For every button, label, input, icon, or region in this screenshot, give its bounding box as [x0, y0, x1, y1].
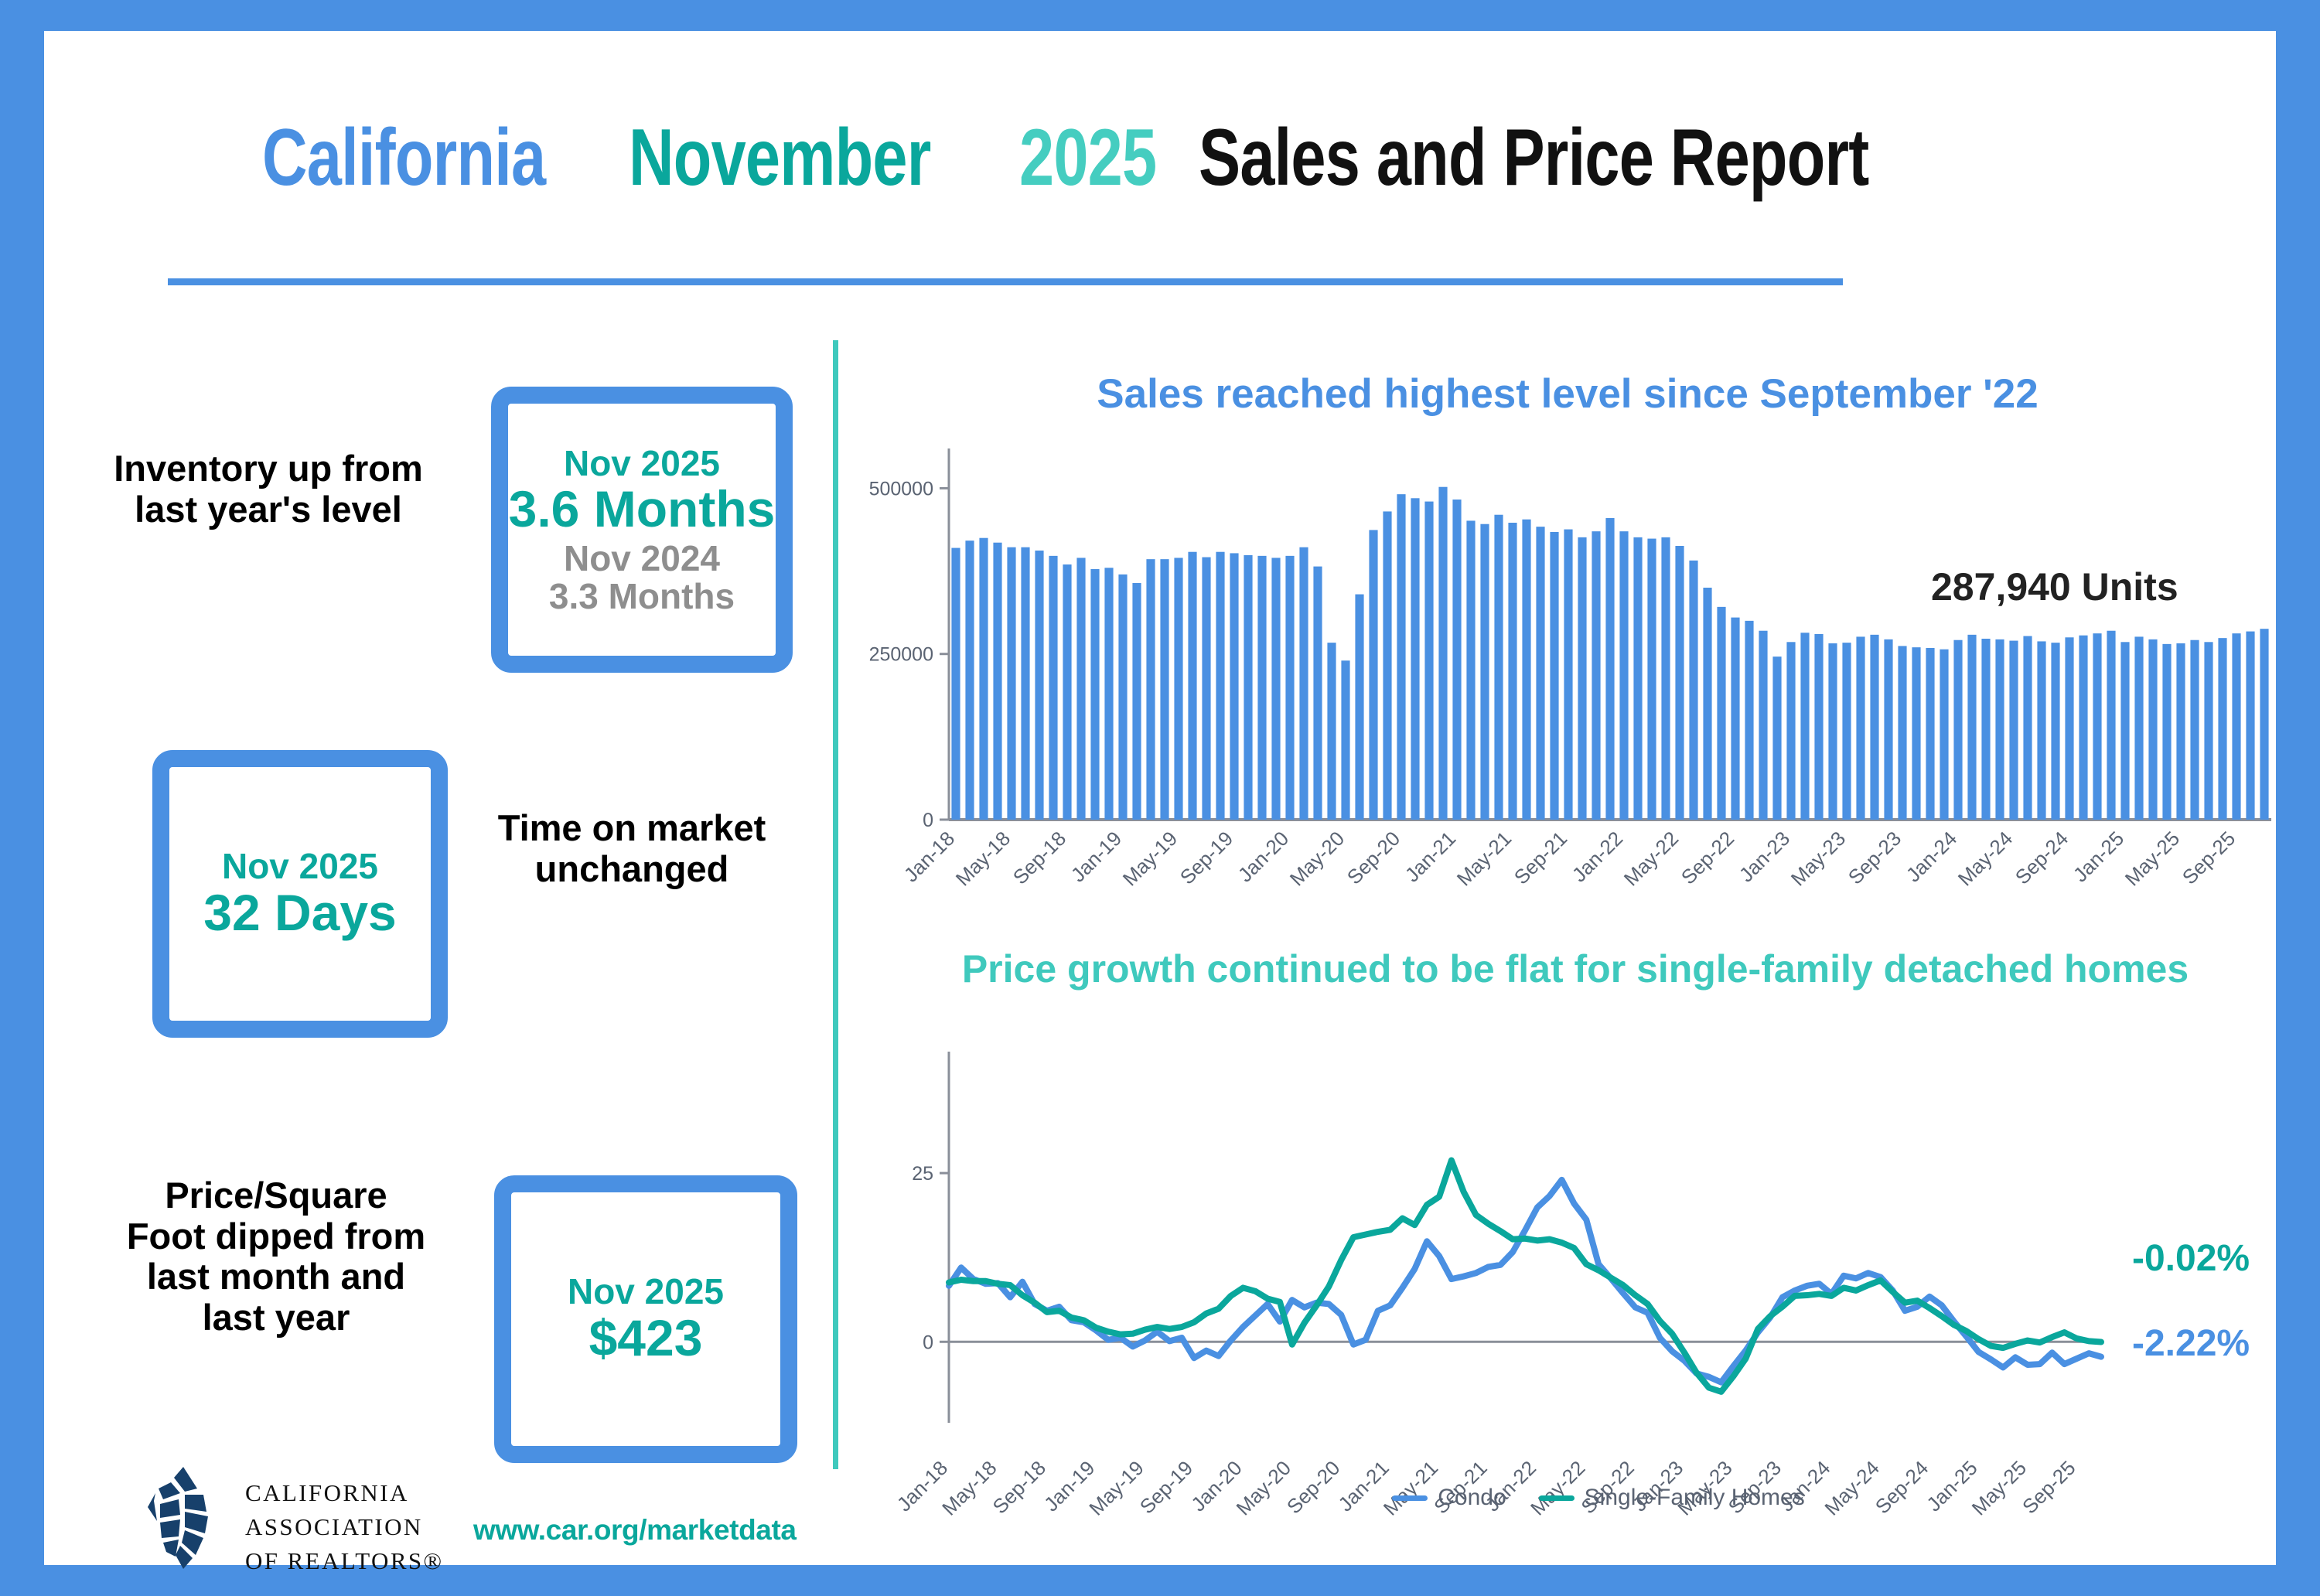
- legend-label-condo: Condo: [1438, 1485, 1506, 1511]
- svg-text:Jan-22: Jan-22: [1568, 827, 1627, 886]
- stat-card-price-per-sqft: Nov 2025 $423: [494, 1175, 797, 1463]
- svg-text:May-25: May-25: [2120, 827, 2185, 891]
- psf-current-label: Nov 2025: [568, 1273, 724, 1310]
- price-growth-line-chart: 025Jan-18May-18Sep-18Jan-19May-19Sep-19J…: [848, 1036, 2302, 1547]
- svg-text:25: 25: [912, 1163, 933, 1185]
- logo-line-2: ASSOCIATION: [245, 1510, 444, 1544]
- svg-text:Sep-23: Sep-23: [1844, 827, 1905, 888]
- infographic-page: California November 2025 Sales and Price…: [44, 31, 2276, 1565]
- svg-text:May-21: May-21: [1452, 827, 1517, 891]
- blurb-time-on-market: Time on market unchanged: [485, 808, 779, 889]
- svg-text:May-18: May-18: [937, 1456, 1001, 1520]
- logo-line-1: CALIFORNIA: [245, 1476, 444, 1510]
- stat-card-inventory: Nov 2025 3.6 Months Nov 2024 3.3 Months: [491, 387, 793, 673]
- svg-text:Sep-22: Sep-22: [1677, 827, 1738, 888]
- bar-chart-svg: 0250000500000Jan-18May-18Sep-18Jan-19May…: [848, 441, 2302, 936]
- legend-item-condo[interactable]: Condo: [1392, 1485, 1506, 1511]
- dom-current-label: Nov 2025: [222, 847, 378, 885]
- svg-text:May-19: May-19: [1118, 827, 1182, 891]
- legend-item-single-family[interactable]: Single-Family Homes: [1539, 1485, 1805, 1511]
- svg-text:Jan-21: Jan-21: [1401, 827, 1460, 886]
- svg-text:0: 0: [923, 1332, 933, 1353]
- inventory-prior-label: Nov 2024: [564, 540, 720, 577]
- page-title: California November 2025 Sales and Price…: [44, 112, 2276, 204]
- dom-current-value: 32 Days: [203, 885, 397, 940]
- inventory-current-label: Nov 2025: [564, 445, 720, 482]
- line-chart-legend: Condo Single-Family Homes: [1312, 1485, 1885, 1511]
- svg-text:Sep-25: Sep-25: [2178, 827, 2240, 888]
- realtors-emblem-icon: [137, 1465, 234, 1570]
- svg-text:May-25: May-25: [1967, 1456, 2032, 1520]
- inventory-prior-value: 3.3 Months: [549, 578, 735, 615]
- psf-current-value: $423: [589, 1311, 703, 1366]
- svg-text:Sep-20: Sep-20: [1343, 827, 1404, 888]
- sales-units-annotation: 287,940 Units: [1931, 564, 2178, 609]
- svg-text:Sep-18: Sep-18: [1008, 827, 1070, 888]
- svg-text:May-22: May-22: [1619, 827, 1684, 891]
- logo-wordmark: CALIFORNIA ASSOCIATION OF REALTORS®: [245, 1476, 444, 1578]
- line-chart-title: Price growth continued to be flat for si…: [918, 947, 2233, 991]
- svg-text:Sep-18: Sep-18: [988, 1456, 1050, 1518]
- svg-text:Jan-18: Jan-18: [899, 827, 959, 886]
- svg-text:Sep-21: Sep-21: [1510, 827, 1571, 888]
- condo-end-label: -2.22%: [2132, 1322, 2250, 1365]
- svg-text:Sep-25: Sep-25: [2018, 1456, 2079, 1518]
- svg-text:May-24: May-24: [1953, 827, 2018, 891]
- svg-text:Sep-19: Sep-19: [1135, 1456, 1197, 1518]
- svg-text:May-20: May-20: [1232, 1456, 1296, 1520]
- blurb-price-per-sqft: Price/Square Foot dipped from last month…: [121, 1175, 431, 1339]
- svg-text:500000: 500000: [869, 478, 933, 500]
- svg-text:250000: 250000: [869, 644, 933, 666]
- svg-text:Jan-25: Jan-25: [2069, 827, 2128, 886]
- stat-card-days-on-market: Nov 2025 32 Days: [152, 750, 448, 1038]
- logo-line-3: OF REALTORS®: [245, 1544, 444, 1578]
- sfh-end-label: -0.02%: [2132, 1237, 2250, 1280]
- svg-text:May-18: May-18: [951, 827, 1015, 891]
- car-logo: CALIFORNIA ASSOCIATION OF REALTORS®: [137, 1465, 462, 1570]
- title-divider: [168, 278, 1843, 285]
- line-chart-svg: 025Jan-18May-18Sep-18Jan-19May-19Sep-19J…: [848, 1036, 2302, 1547]
- title-part-report: Sales and Price Report: [1199, 112, 1868, 204]
- bar-chart-title: Sales reached highest level since Septem…: [872, 371, 2264, 417]
- svg-text:May-20: May-20: [1285, 827, 1349, 891]
- legend-label-single-family: Single-Family Homes: [1585, 1485, 1805, 1511]
- sales-bar-chart: 0250000500000Jan-18May-18Sep-18Jan-19May…: [848, 441, 2302, 936]
- svg-text:Jan-19: Jan-19: [1066, 827, 1126, 886]
- legend-swatch-condo: [1392, 1495, 1428, 1501]
- title-part-month: November: [629, 112, 930, 204]
- inventory-current-value: 3.6 Months: [509, 482, 776, 537]
- svg-text:May-23: May-23: [1786, 827, 1851, 891]
- svg-text:May-19: May-19: [1084, 1456, 1148, 1520]
- svg-text:Jan-23: Jan-23: [1735, 827, 1794, 886]
- svg-text:0: 0: [923, 810, 933, 831]
- svg-text:Sep-19: Sep-19: [1175, 827, 1237, 888]
- svg-text:Jan-24: Jan-24: [1902, 827, 1961, 886]
- title-part-california: California: [262, 112, 545, 204]
- svg-text:Jan-20: Jan-20: [1233, 827, 1293, 886]
- svg-text:Sep-24: Sep-24: [2011, 827, 2073, 888]
- column-divider: [833, 340, 838, 1469]
- blurb-inventory: Inventory up from last year's level: [114, 448, 423, 530]
- website-link[interactable]: www.car.org/marketdata: [473, 1514, 797, 1547]
- title-part-year: 2025: [1019, 112, 1156, 204]
- legend-swatch-single-family: [1539, 1495, 1575, 1501]
